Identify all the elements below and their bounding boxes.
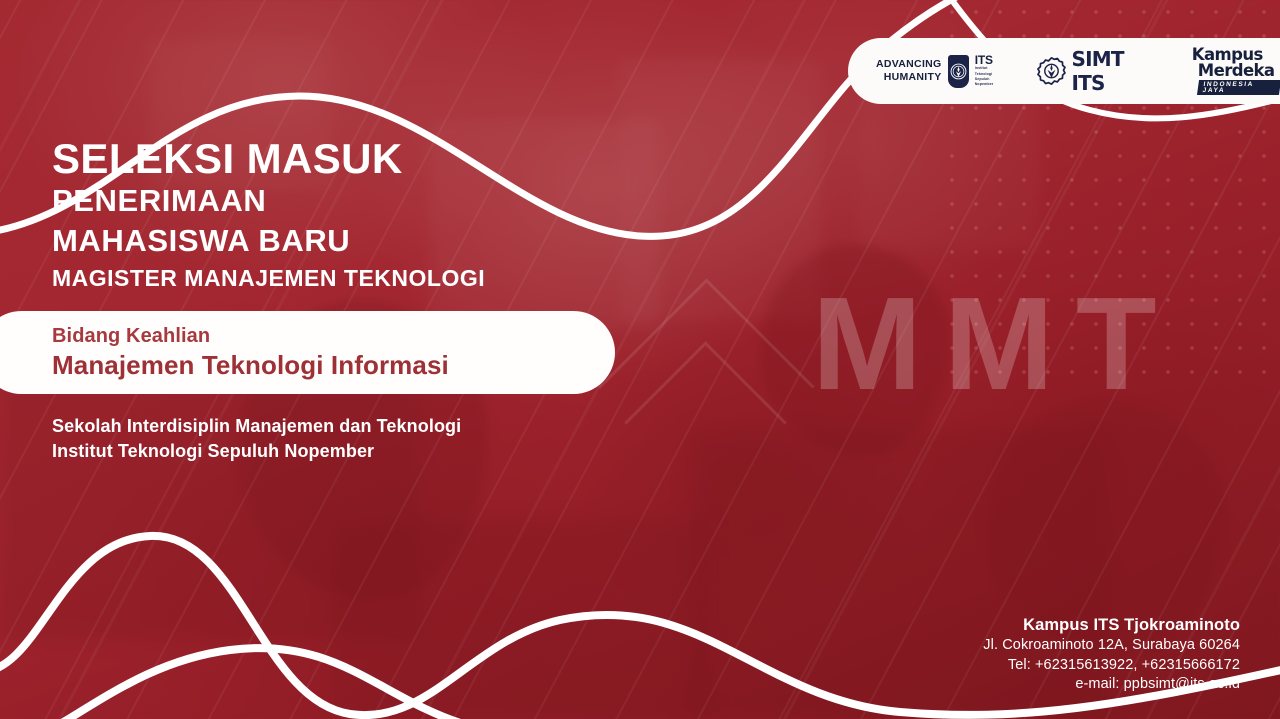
- its-fullname-line-3: Sepuluh Nopember: [975, 77, 1007, 88]
- logo-bar: ADVANCING HUMANITY ITS Institut Teknolog…: [848, 38, 1280, 104]
- its-shield-icon: [948, 55, 969, 88]
- kampus-merdeka-logo: Kampus Merdeka INDONESIA JAYA: [1192, 47, 1280, 94]
- tagline-line-1: ADVANCING: [876, 58, 942, 71]
- contact-email: e-mail: ppbsimt@its.ac.id: [983, 675, 1240, 695]
- headline-line-4: MAGISTER MANAJEMEN TEKNOLOGI: [52, 263, 485, 294]
- its-abbrev: ITS: [975, 54, 1007, 66]
- kampus-merdeka-line-2: Merdeka: [1198, 63, 1275, 78]
- its-logo-lockup: ADVANCING HUMANITY ITS Institut Teknolog…: [876, 54, 1007, 88]
- headline-line-2: PENERIMAAN: [52, 181, 485, 221]
- headline-line-3: MAHASISWA BARU: [52, 221, 485, 261]
- school-block: Sekolah Interdisiplin Manajemen dan Tekn…: [52, 414, 461, 464]
- simt-gear-icon: [1037, 56, 1066, 86]
- simt-logo-lockup: SIMT ITS: [1037, 47, 1160, 95]
- advancing-humanity-tagline: ADVANCING HUMANITY: [876, 58, 942, 84]
- mmt-watermark: MMT: [812, 278, 1179, 410]
- kampus-merdeka-badge: INDONESIA JAYA: [1197, 80, 1280, 95]
- headline-line-1: SELEKSI MASUK: [52, 136, 485, 181]
- school-line-1: Sekolah Interdisiplin Manajemen dan Tekn…: [52, 414, 461, 439]
- contact-phone: Tel: +62315613922, +62315666172: [983, 656, 1240, 676]
- school-line-2: Institut Teknologi Sepuluh Nopember: [52, 439, 461, 464]
- contact-address: Jl. Cokroaminoto 12A, Surabaya 60264: [983, 636, 1240, 656]
- program-pill: Bidang Keahlian Manajemen Teknologi Info…: [0, 311, 615, 394]
- simt-wordmark: SIMT ITS: [1072, 47, 1160, 95]
- its-emblem-icon: [950, 63, 967, 80]
- contact-campus: Kampus ITS Tjokroaminoto: [983, 614, 1240, 636]
- headline-block: SELEKSI MASUK PENERIMAAN MAHASISWA BARU …: [52, 136, 485, 294]
- program-label: Bidang Keahlian: [52, 323, 615, 349]
- tagline-line-2: HUMANITY: [876, 71, 942, 84]
- poster-root: MMT ADVANCING HUMANITY: [0, 0, 1280, 719]
- program-name: Manajemen Teknologi Informasi: [52, 349, 615, 382]
- its-wordmark: ITS Institut Teknologi Sepuluh Nopember: [975, 54, 1007, 88]
- contact-block: Kampus ITS Tjokroaminoto Jl. Cokroaminot…: [983, 614, 1240, 695]
